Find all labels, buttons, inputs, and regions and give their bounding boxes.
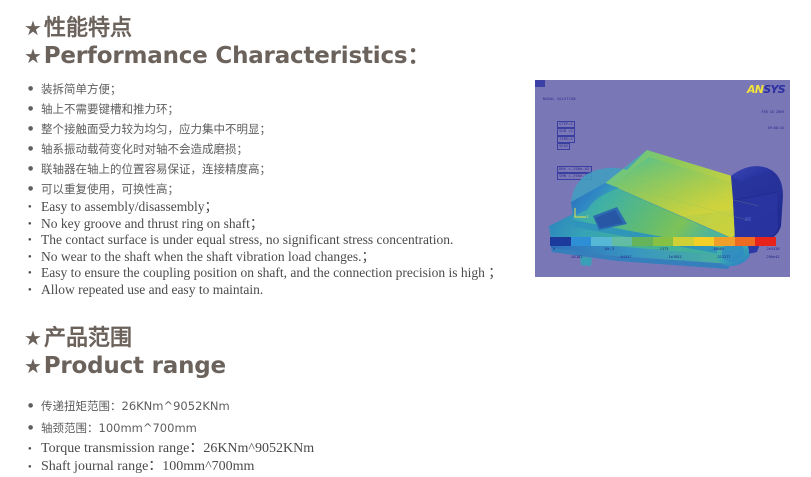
colorbar-band [632, 237, 653, 246]
axis-triad-icon: Z [572, 206, 590, 220]
performance-heading-en-text: Performance Characteristics： [44, 43, 430, 69]
list-item: 轴颈范围：100mm^700mm [28, 417, 230, 439]
product-range-heading-en: ★Product range [24, 352, 226, 380]
colorbar-tick-label: .1e1852 [666, 255, 681, 259]
product-range-bullets-en: Torque transmission range：26KNm^9052KNm … [28, 440, 314, 476]
star-icon: ★ [24, 44, 42, 68]
product-range-heading: ★产品范围 ★Product range [24, 326, 226, 380]
list-item: Allow repeated use and easy to maintain. [28, 282, 502, 299]
performance-bullets-cn: 装拆简单方便； 轴上不需要键槽和推力环； 整个接触面受力较为均匀，应力集中不明显… [28, 79, 271, 199]
list-item: 装拆简单方便； [28, 79, 271, 99]
colorbar-band [673, 237, 694, 246]
colorbar-tick-label: .212277 [715, 255, 730, 259]
colorbar-band [735, 237, 756, 246]
list-item: 传递扭矩范围：26KNm^9052KNm [28, 395, 230, 417]
colorbar-tick-label: .290e42 [764, 255, 779, 259]
list-item: 可以重复使用，可换性高； [28, 179, 271, 199]
colorbar-band [550, 237, 571, 246]
list-item: No key groove and thrust ring on shaft； [28, 216, 502, 233]
list-item: The contact surface is under equal stres… [28, 232, 502, 249]
performance-heading-en: ★Performance Characteristics： [24, 42, 430, 70]
colorbar-labels-bottom: .02182.04547.1e1852.212277.290e42 [550, 248, 776, 260]
colorbar-band [571, 237, 592, 246]
page-root: ★性能特点 ★Performance Characteristics： 装拆简单… [0, 0, 811, 477]
star-icon: ★ [24, 16, 42, 40]
product-range-heading-cn-text: 产品范围 [44, 326, 132, 351]
svg-text:Z: Z [587, 215, 589, 219]
list-item: 联轴器在轴上的位置容易保证，连接精度高； [28, 159, 271, 179]
colorbar-band [653, 237, 674, 246]
list-item: Shaft journal range：100mm^700mm [28, 458, 314, 476]
performance-heading: ★性能特点 ★Performance Characteristics： [24, 16, 430, 70]
performance-bullets-en: Easy to assembly/disassembly； No key gro… [28, 199, 502, 298]
colorbar-band [612, 237, 633, 246]
list-item: Easy to ensure the coupling position on … [28, 265, 502, 282]
colorbar-band [591, 237, 612, 246]
product-range-heading-en-text: Product range [44, 353, 226, 379]
fea-simulation-figure: NODAL SOLUTION STEP=1 SUB =1 TIME=1 SEQV… [535, 80, 790, 277]
list-item: 整个接触面受力较为均匀，应力集中不明显； [28, 119, 271, 139]
star-icon: ★ [24, 326, 42, 350]
list-item: 轴上不需要键槽和推力环； [28, 99, 271, 119]
colorbar-band [694, 237, 715, 246]
colorbar-tick-label: .02182 [570, 255, 583, 259]
performance-heading-cn: ★性能特点 [24, 16, 430, 42]
product-range-heading-cn: ★产品范围 [24, 326, 226, 352]
performance-heading-cn-text: 性能特点 [44, 16, 132, 41]
list-item: Torque transmission range：26KNm^9052KNm [28, 440, 314, 458]
list-item: Easy to assembly/disassembly； [28, 199, 502, 216]
colorbar-band [714, 237, 735, 246]
star-icon: ★ [24, 354, 42, 378]
list-item: 轴系振动载荷变化时对轴不会造成磨损； [28, 139, 271, 159]
product-range-bullets-cn: 传递扭矩范围：26KNm^9052KNm 轴颈范围：100mm^700mm [28, 395, 230, 439]
list-item: No wear to the shaft when the shaft vibr… [28, 249, 502, 266]
colorbar-tick-label: .04547 [619, 255, 632, 259]
colorbar-strip [550, 237, 776, 246]
fea-colorbar: 0.8e-3.1373.18085.2e3438 .02182.04547.1e… [550, 237, 776, 260]
colorbar-band [755, 237, 776, 246]
